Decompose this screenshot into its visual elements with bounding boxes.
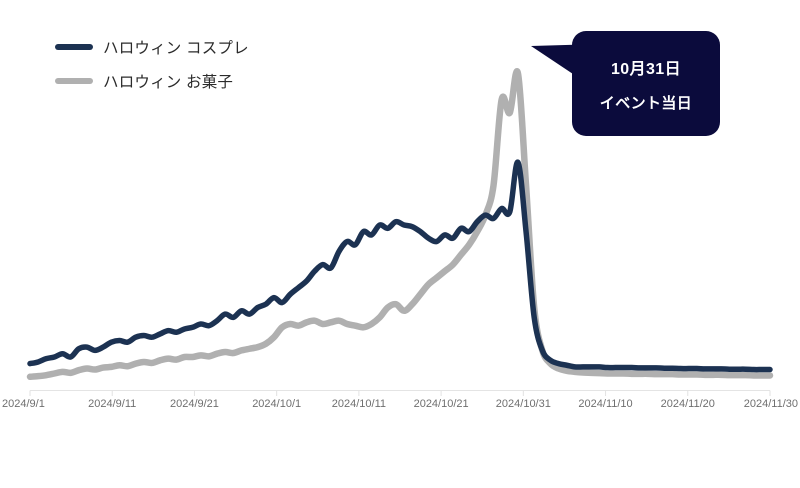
legend-item-okashi: ハロウィン お菓子 [55, 70, 249, 92]
legend-swatch-okashi [55, 78, 93, 84]
x-axis-group [30, 391, 770, 397]
x-axis-label: 2024/11/20 [661, 398, 715, 410]
x-axis-label: 2024/9/21 [170, 398, 219, 410]
chart-legend: ハロウィン コスプレ ハロウィン お菓子 [55, 36, 249, 92]
x-axis-label: 2024/10/21 [414, 398, 469, 410]
x-axis-label: 2024/9/1 [2, 398, 45, 410]
series-line-cosplay [30, 162, 770, 369]
x-axis-ticks [30, 391, 770, 397]
x-axis-label: 2024/10/1 [252, 398, 301, 410]
event-day-callout: 10月31日 イベント当日 [572, 31, 720, 136]
callout-date: 10月31日 [611, 55, 681, 79]
callout-caption: イベント当日 [600, 92, 692, 113]
halloween-trend-chart: ハロウィン コスプレ ハロウィン お菓子 10月31日 イベント当日 2024/… [0, 0, 800, 488]
legend-label-okashi: ハロウィン お菓子 [103, 70, 233, 92]
legend-item-cosplay: ハロウィン コスプレ [55, 36, 249, 58]
legend-label-cosplay: ハロウィン コスプレ [103, 36, 249, 58]
x-axis-label: 2024/9/11 [88, 398, 136, 410]
x-axis-label: 2024/11/10 [578, 398, 632, 410]
x-axis-label: 2024/11/30 [744, 398, 798, 410]
legend-swatch-cosplay [55, 44, 93, 50]
x-axis-label: 2024/10/11 [332, 398, 386, 410]
x-axis-label: 2024/10/31 [496, 398, 551, 410]
